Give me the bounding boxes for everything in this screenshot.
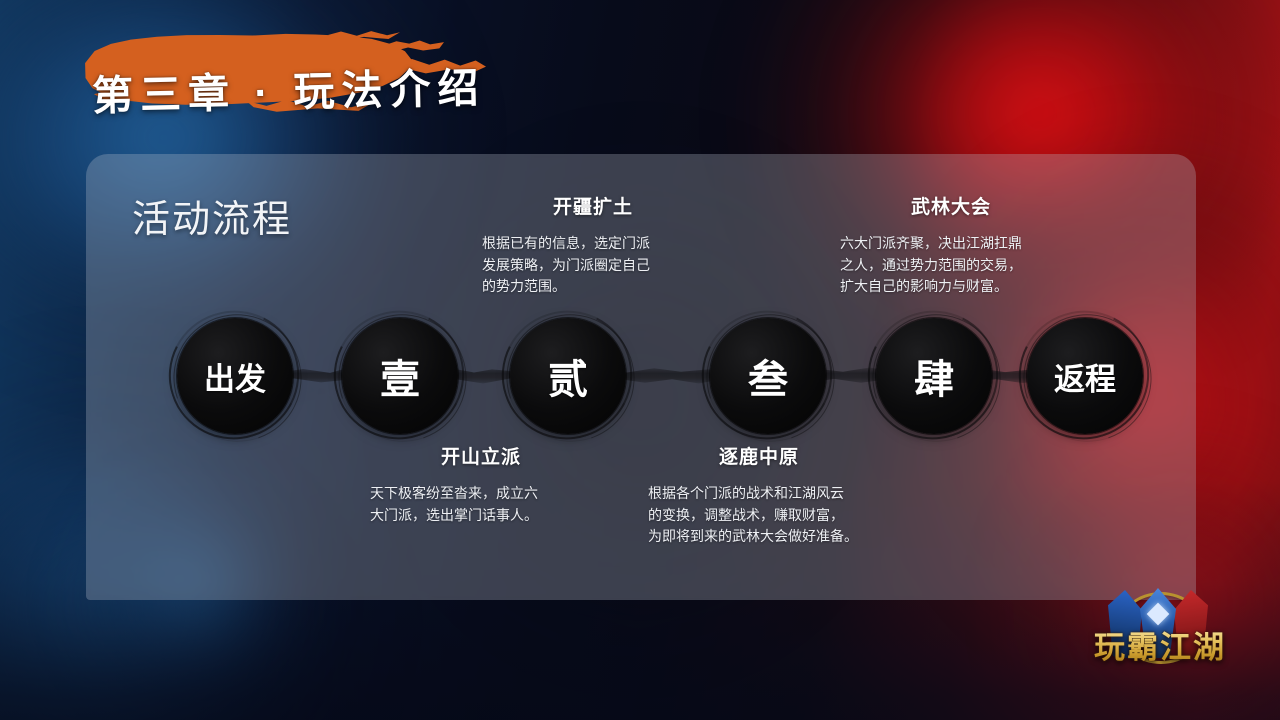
content-panel: 活动流程 出发壹贰叁肆返程开山立派天下极客纷至沓来，成立六大门派，选出掌门话事人… bbox=[86, 154, 1196, 600]
step-heading: 开山立派 bbox=[356, 442, 606, 469]
step-body: 六大门派齐聚，决出江湖扛鼎之人，通过势力范围的交易，扩大自己的影响力与财富。 bbox=[826, 233, 1076, 298]
timeline-node-1[interactable]: 出发 bbox=[177, 318, 293, 434]
timeline-node-5[interactable]: 肆 bbox=[876, 318, 992, 434]
timeline-node-6[interactable]: 返程 bbox=[1027, 318, 1143, 434]
timeline-node-label: 返程 bbox=[1027, 318, 1143, 434]
timeline: 出发壹贰叁肆返程开山立派天下极客纷至沓来，成立六大门派，选出掌门话事人。开疆扩土… bbox=[86, 154, 1196, 600]
chapter-title: 第三章 · 玩法介绍 bbox=[91, 54, 486, 122]
timeline-node-label: 壹 bbox=[342, 318, 458, 434]
timeline-node-4[interactable]: 叁 bbox=[710, 318, 826, 434]
timeline-step-3: 逐鹿中原根据各个门派的战术和江湖风云的变换，调整战术，赚取财富，为即将到来的武林… bbox=[634, 442, 884, 548]
timeline-node-label: 叁 bbox=[710, 318, 826, 434]
step-body: 根据已有的信息，选定门派发展策略，为门派圈定自己的势力范围。 bbox=[468, 233, 718, 298]
timeline-node-2[interactable]: 壹 bbox=[342, 318, 458, 434]
timeline-step-1: 开山立派天下极客纷至沓来，成立六大门派，选出掌门话事人。 bbox=[356, 442, 606, 526]
timeline-step-4: 武林大会六大门派齐聚，决出江湖扛鼎之人，通过势力范围的交易，扩大自己的影响力与财… bbox=[826, 192, 1076, 298]
timeline-step-2: 开疆扩土根据已有的信息，选定门派发展策略，为门派圈定自己的势力范围。 bbox=[468, 192, 718, 298]
timeline-node-3[interactable]: 贰 bbox=[510, 318, 626, 434]
timeline-node-label: 出发 bbox=[177, 318, 293, 434]
game-logo: 玩霸江湖 bbox=[1056, 586, 1264, 678]
step-heading: 开疆扩土 bbox=[468, 192, 718, 219]
step-body: 根据各个门派的战术和江湖风云的变换，调整战术，赚取财富，为即将到来的武林大会做好… bbox=[634, 483, 884, 548]
step-heading: 武林大会 bbox=[826, 192, 1076, 219]
timeline-node-label: 肆 bbox=[876, 318, 992, 434]
step-body: 天下极客纷至沓来，成立六大门派，选出掌门话事人。 bbox=[356, 483, 606, 526]
chapter-title-group: 第三章 · 玩法介绍 bbox=[70, 24, 630, 120]
brush-splatter-icon bbox=[386, 40, 444, 52]
step-heading: 逐鹿中原 bbox=[634, 442, 884, 469]
logo-text: 玩霸江湖 bbox=[1056, 622, 1264, 667]
slide-root: 第三章 · 玩法介绍 活动流程 出发壹贰叁肆返程开山立派天下极客纷至沓来，成立六… bbox=[0, 0, 1280, 720]
timeline-node-label: 贰 bbox=[510, 318, 626, 434]
